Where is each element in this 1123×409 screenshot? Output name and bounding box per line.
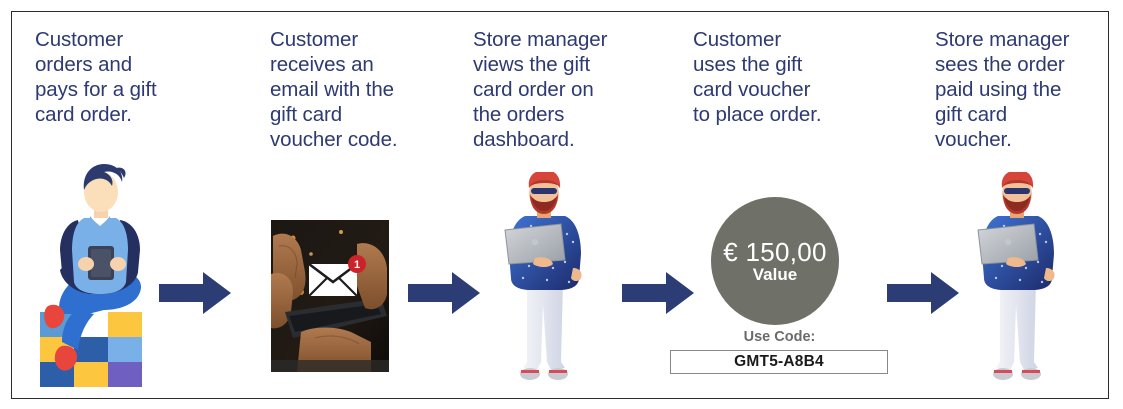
step-2-caption: Customer receives an email with the gift… <box>270 27 460 152</box>
store-manager-with-laptop-illustration <box>497 172 593 387</box>
step-4: Customer uses the gift card voucher to p… <box>677 12 912 398</box>
seated-customer-with-tablet-illustration <box>32 164 172 389</box>
voucher-code: GMT5-A8B4 <box>734 353 824 371</box>
voucher-amount: € 150,00 <box>723 238 827 266</box>
store-manager-with-laptop-illustration-2 <box>970 172 1066 387</box>
step-3-caption: Store manager views the gift card order … <box>473 27 673 152</box>
arrow-step1-to-step2 <box>159 270 231 316</box>
voucher-value-circle: € 150,00 Value <box>711 197 839 325</box>
step-5: Store manager sees the order paid using … <box>912 12 1110 398</box>
step-1: Customer orders and pays for a gift card… <box>12 12 242 398</box>
voucher-value-label: Value <box>753 265 797 285</box>
step-2: Customer receives an email with the gift… <box>242 12 457 398</box>
email-badge-count: 1 <box>354 259 360 271</box>
diagram-frame: Customer orders and pays for a gift card… <box>11 11 1109 399</box>
step-4-caption: Customer uses the gift card voucher to p… <box>693 27 873 127</box>
hand-holding-phone-email-notification-photo: 1 <box>271 220 389 372</box>
step-1-caption: Customer orders and pays for a gift card… <box>35 27 235 127</box>
step-5-caption: Store manager sees the order paid using … <box>935 27 1115 152</box>
gift-card-voucher-graphic: € 150,00 Value Use Code: GMT5-A8B4 <box>662 197 897 372</box>
step-3: Store manager views the gift card order … <box>457 12 677 398</box>
voucher-code-box[interactable]: GMT5-A8B4 <box>670 350 888 374</box>
voucher-use-code-label: Use Code: <box>662 329 897 345</box>
